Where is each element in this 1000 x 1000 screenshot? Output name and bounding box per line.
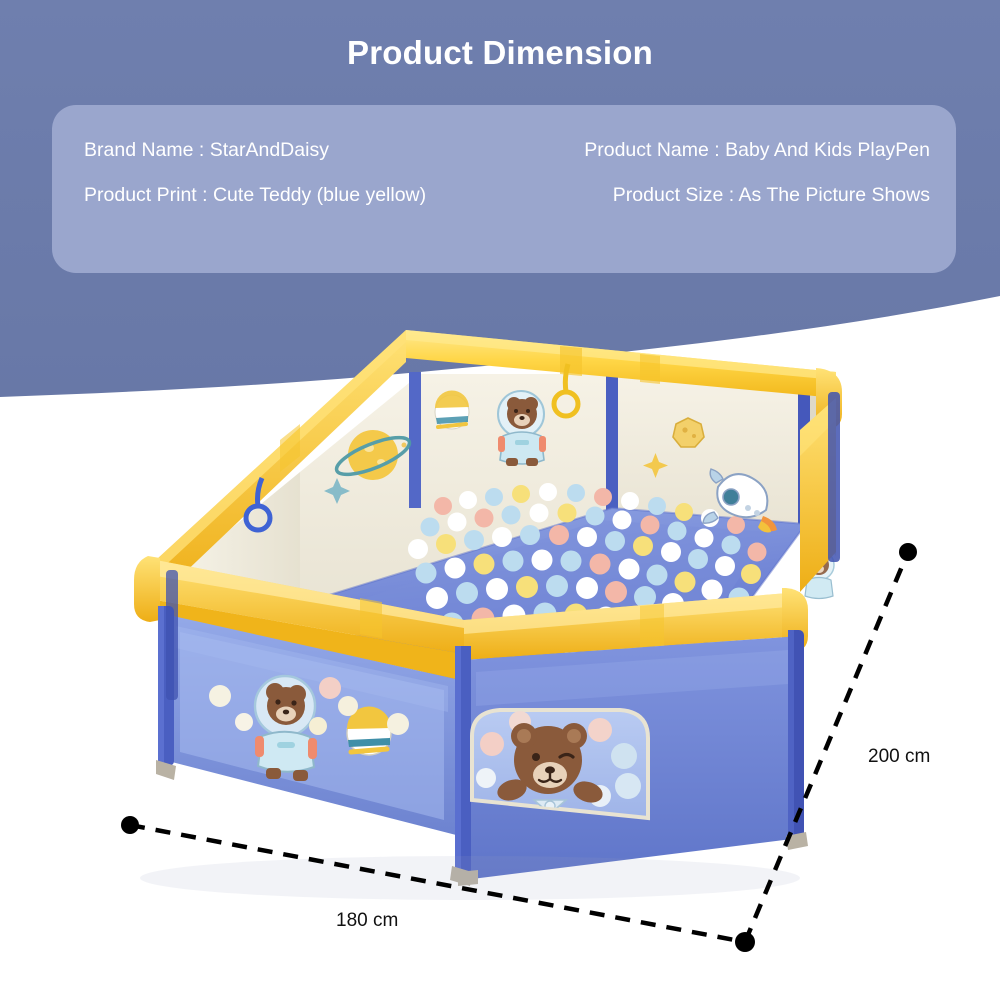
corner-vertex-dot	[735, 932, 755, 952]
dimension-annotations	[0, 0, 1000, 1000]
product-dimension-page: Product Dimension Brand Name : StarAndDa…	[0, 0, 1000, 1000]
depth-dimension-label: 200 cm	[868, 746, 930, 768]
width-start-dot	[121, 816, 139, 834]
depth-end-dot	[899, 543, 917, 561]
width-dimension-line	[130, 825, 745, 942]
width-dimension-label: 180 cm	[336, 910, 398, 932]
